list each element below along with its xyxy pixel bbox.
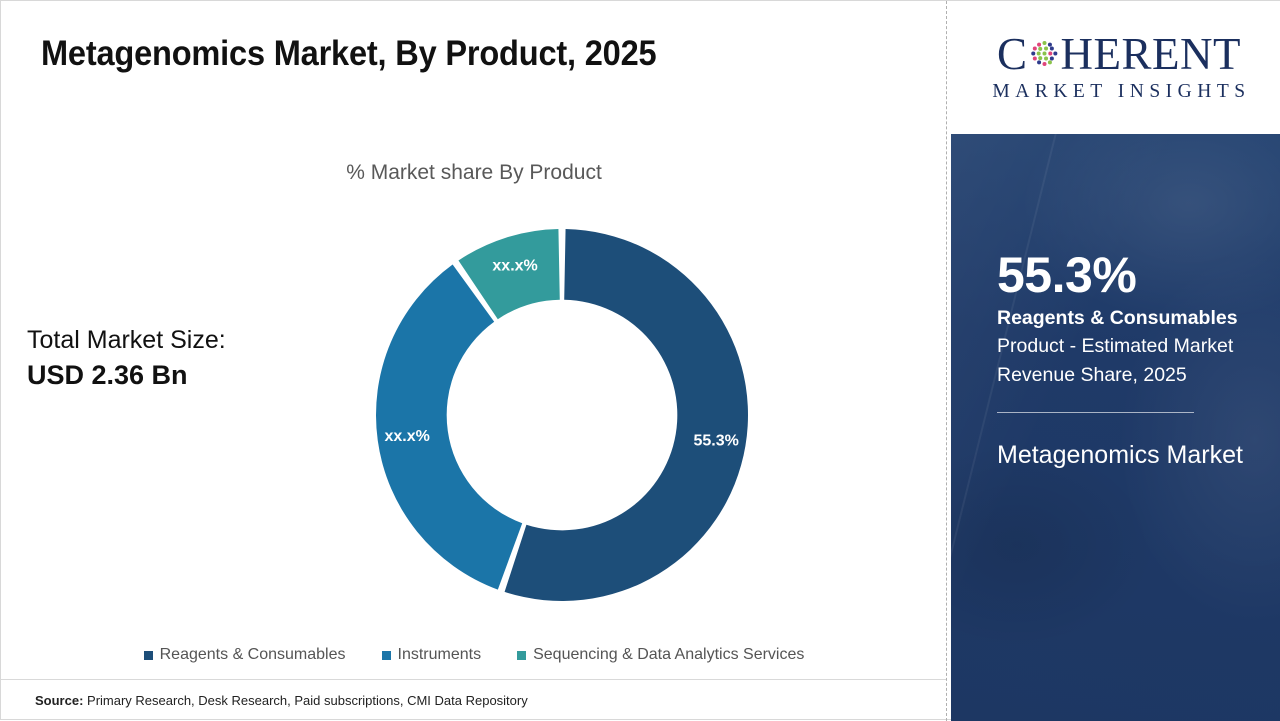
chart-legend: Reagents & ConsumablesInstrumentsSequenc… — [1, 646, 947, 664]
legend-label: Instruments — [398, 646, 482, 664]
chart-area: Metagenomics Market, By Product, 2025 % … — [1, 1, 947, 721]
logo-container: C — [951, 1, 1280, 134]
legend-item[interactable]: Reagents & Consumables — [144, 646, 346, 664]
highlight-panel-content: 55.3% Reagents & Consumables Product - E… — [997, 249, 1259, 473]
highlight-panel: 55.3% Reagents & Consumables Product - E… — [951, 134, 1280, 721]
logo-wordmark: C — [997, 32, 1241, 77]
donut-slices — [376, 229, 748, 601]
donut-chart: 55.3%xx.x%xx.x% — [372, 225, 752, 605]
legend-item[interactable]: Sequencing & Data Analytics Services — [517, 646, 804, 664]
donut-slice-label: xx.x% — [384, 428, 429, 445]
legend-label: Reagents & Consumables — [160, 646, 346, 664]
source-text: Primary Research, Desk Research, Paid su… — [83, 693, 527, 708]
legend-swatch-icon — [144, 651, 153, 660]
logo-tagline: MARKET INSIGHTS — [992, 81, 1250, 103]
panel-divider — [997, 412, 1194, 413]
stat-segment-name: Reagents & Consumables — [997, 306, 1259, 331]
side-panel: C — [951, 1, 1280, 721]
stat-description: Product - Estimated Market Revenue Share… — [997, 332, 1259, 390]
logo-letter-c: C — [997, 32, 1028, 77]
donut-slice-label: 55.3% — [693, 432, 738, 449]
legend-label: Sequencing & Data Analytics Services — [533, 646, 804, 664]
infographic-page: Metagenomics Market, By Product, 2025 % … — [0, 0, 1280, 720]
page-title: Metagenomics Market, By Product, 2025 — [41, 34, 656, 74]
legend-swatch-icon — [382, 651, 391, 660]
panel-market-name: Metagenomics Market — [997, 439, 1259, 473]
stat-value: 55.3% — [997, 249, 1259, 301]
source-line: Source: Primary Research, Desk Research,… — [35, 693, 528, 708]
donut-slice-label: xx.x% — [492, 257, 537, 274]
total-market-size-block: Total Market Size: USD 2.36 Bn — [27, 323, 226, 393]
legend-swatch-icon — [517, 651, 526, 660]
coherent-market-insights-logo: C — [987, 32, 1250, 103]
source-label: Source: — [35, 693, 83, 708]
globe-icon — [1029, 38, 1060, 69]
chart-subtitle: % Market share By Product — [1, 161, 947, 185]
total-market-size-label: Total Market Size: — [27, 323, 226, 357]
logo-wordmark-rest: HERENT — [1061, 32, 1241, 77]
total-market-size-value: USD 2.36 Bn — [27, 357, 226, 393]
legend-item[interactable]: Instruments — [382, 646, 482, 664]
pane-separator — [946, 1, 947, 721]
footer-divider — [1, 679, 947, 680]
donut-chart-svg: 55.3%xx.x%xx.x% — [372, 225, 752, 605]
